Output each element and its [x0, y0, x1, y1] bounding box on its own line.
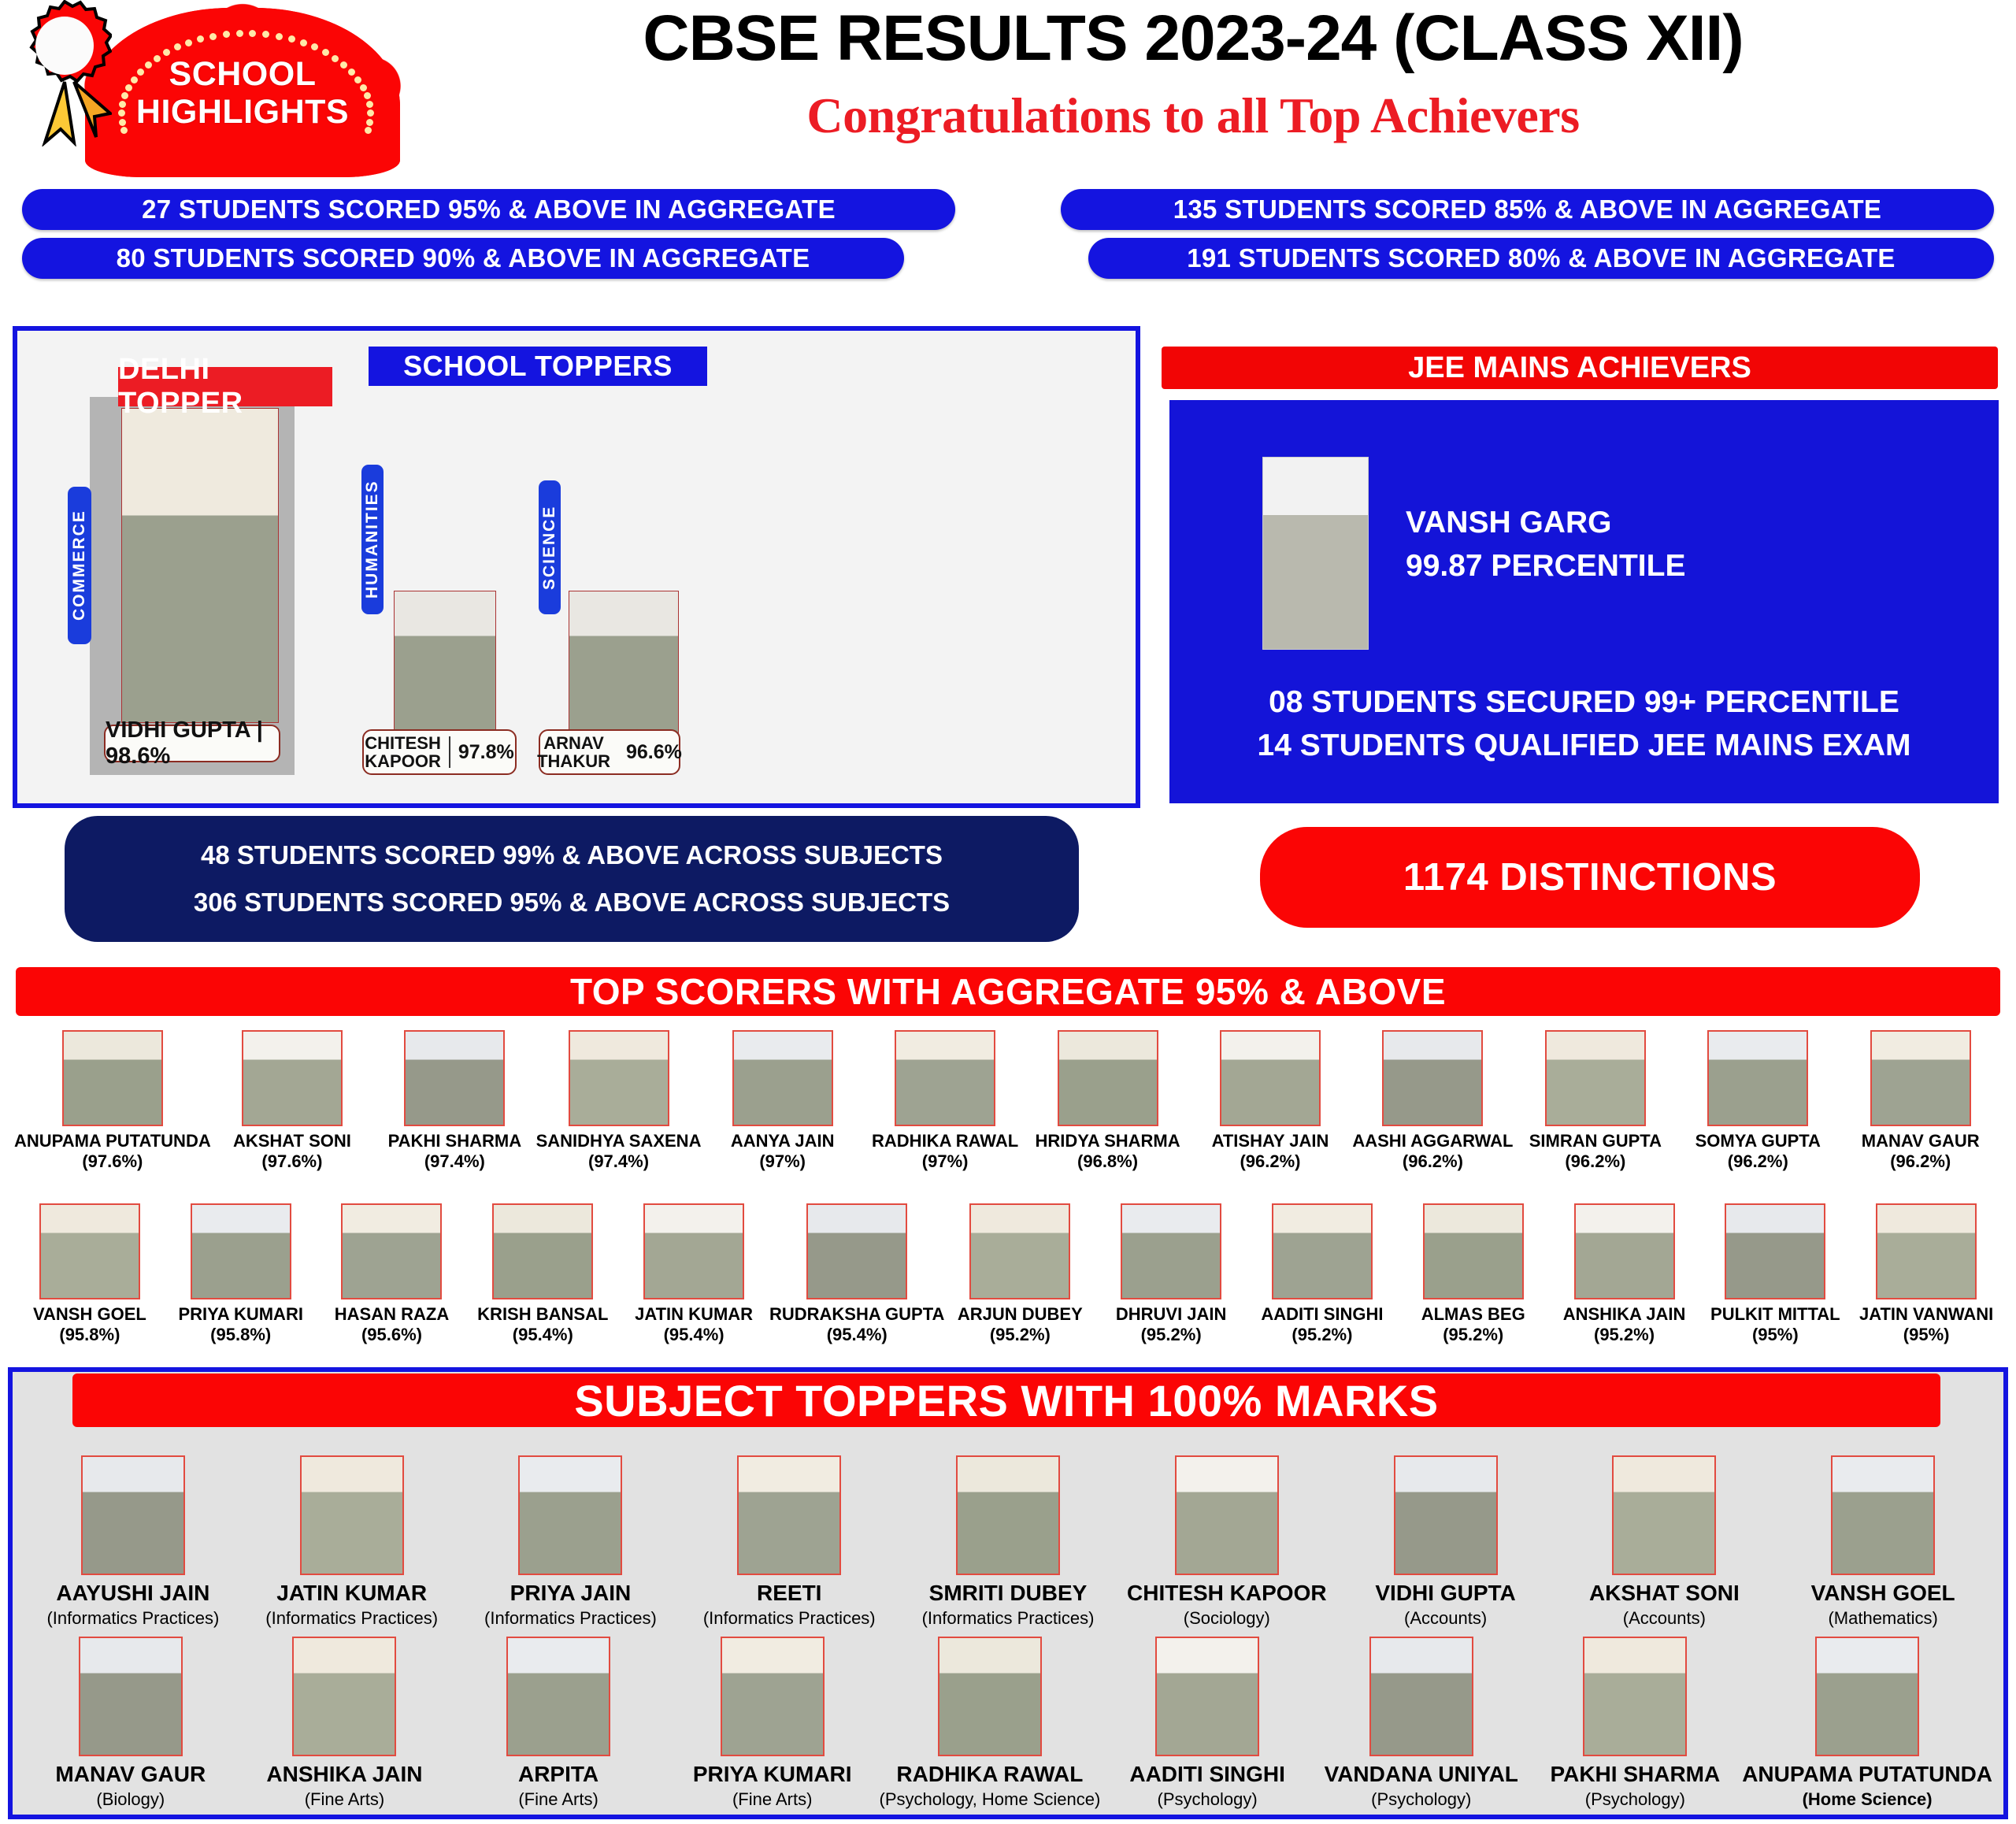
top-scorer-percentage: (95.2%): [990, 1325, 1051, 1345]
top-scorer-percentage: (96.2%): [1565, 1151, 1625, 1172]
science-topper-chip: ARNAV THAKUR 96.6%: [539, 729, 680, 775]
subject-topper-name: JATIN KUMAR: [276, 1581, 427, 1606]
subject-topper-name: CHITESH KAPOOR: [1127, 1581, 1327, 1606]
top-scorer-name: SANIDHYA SAXENA: [536, 1131, 702, 1151]
top-scorer-photo: [404, 1030, 505, 1126]
subject-topper-photo: [1831, 1455, 1935, 1575]
subject-topper-subject: (Psychology): [1158, 1789, 1258, 1810]
subject-topper-photo: [81, 1455, 185, 1575]
stat-pill-85-aggregate: 135 STUDENTS SCORED 85% & ABOVE IN AGGRE…: [1061, 189, 1994, 230]
top-scorer-name: VANSH GOEL: [33, 1304, 146, 1325]
stream-label-commerce: COMMERCE: [68, 487, 91, 644]
subjects-99-text: 48 STUDENTS SCORED 99% & ABOVE ACROSS SU…: [201, 840, 943, 870]
top-scorer-card: AASHI AGGARWAL(96.2%): [1351, 1030, 1514, 1172]
page-title: CBSE RESULTS 2023-24 (CLASS XII): [394, 2, 1992, 76]
subject-topper-card: AKSHAT SONI(Accounts): [1555, 1455, 1773, 1629]
page-subtitle: Congratulations to all Top Achievers: [394, 87, 1992, 145]
top-scorer-card: ARJUN DUBEY(95.2%): [944, 1203, 1095, 1345]
top-scorer-name: PULKIT MITTAL: [1710, 1304, 1840, 1325]
subject-topper-photo: [506, 1637, 610, 1756]
top-scorer-card: AKSHAT SONI(97.6%): [211, 1030, 373, 1172]
top-scorer-card: PRIYA KUMARI(95.8%): [165, 1203, 317, 1345]
subject-toppers-row-2: MANAV GAUR(Biology)ANSHIKA JAIN(Fine Art…: [24, 1637, 1992, 1810]
top-scorer-name: RADHIKA RAWAL: [872, 1131, 1018, 1151]
top-scorer-name: ALMAS BEG: [1421, 1304, 1525, 1325]
top-scorer-photo: [1121, 1203, 1221, 1299]
jee-stat-qualified: 14 STUDENTS QUALIFIED JEE MAINS EXAM: [1169, 724, 1999, 767]
stat-pill-80-aggregate: 191 STUDENTS SCORED 80% & ABOVE IN AGGRE…: [1088, 238, 1994, 279]
subject-topper-photo: [721, 1637, 825, 1756]
subject-topper-name: VIDHI GUPTA: [1375, 1581, 1515, 1606]
subject-topper-subject: (Informatics Practices): [703, 1608, 876, 1629]
top-scorer-name: AASHI AGGARWAL: [1352, 1131, 1513, 1151]
top-scorer-photo: [1058, 1030, 1158, 1126]
subject-topper-subject: (Informatics Practices): [46, 1608, 219, 1629]
top-scorer-percentage: (95.8%): [210, 1325, 271, 1345]
top-scorer-name: MANAV GAUR: [1862, 1131, 1980, 1151]
top-scorer-photo: [1220, 1030, 1321, 1126]
subject-topper-subject: (Accounts): [1404, 1608, 1487, 1629]
jee-stats: 08 STUDENTS SECURED 99+ PERCENTILE 14 ST…: [1169, 680, 1999, 768]
subject-topper-card: PAKHI SHARMA(Psychology): [1529, 1637, 1743, 1810]
top-scorer-card: PAKHI SHARMA(97.4%): [373, 1030, 535, 1172]
top-scorer-card: AANYA JAIN(97%): [701, 1030, 863, 1172]
subject-topper-subject: (Informatics Practices): [922, 1608, 1095, 1629]
subject-toppers-row-1: AAYUSHI JAIN(Informatics Practices)JATIN…: [24, 1455, 1992, 1629]
top-scorer-card: MANAV GAUR(96.2%): [1840, 1030, 2002, 1172]
top-scorer-photo: [732, 1030, 833, 1126]
top-scorer-card: SIMRAN GUPTA(96.2%): [1514, 1030, 1677, 1172]
science-topper-score: 96.6%: [626, 741, 682, 764]
subject-topper-card: JATIN KUMAR(Informatics Practices): [243, 1455, 461, 1629]
subject-topper-name: AKSHAT SONI: [1589, 1581, 1740, 1606]
top-scorer-name: JATIN VANWANI: [1859, 1304, 1993, 1325]
subject-topper-name: PAKHI SHARMA: [1551, 1763, 1721, 1787]
top-scorer-percentage: (95.2%): [1291, 1325, 1352, 1345]
subject-topper-card: VANSH GOEL(Mathematics): [1773, 1455, 1992, 1629]
subject-topper-name: VANDANA UNIYAL: [1325, 1763, 1518, 1787]
school-toppers-panel: DELHI TOPPER SCHOOL TOPPERS COMMERCE VID…: [13, 326, 1140, 808]
top-scorer-name: ARJUN DUBEY: [958, 1304, 1083, 1325]
subjects-scored-banner: 48 STUDENTS SCORED 99% & ABOVE ACROSS SU…: [65, 816, 1079, 942]
subject-topper-photo: [1394, 1455, 1498, 1575]
subject-topper-photo: [292, 1637, 396, 1756]
top-scorer-percentage: (95.4%): [827, 1325, 888, 1345]
subject-topper-name: SMRITI DUBEY: [929, 1581, 1088, 1606]
subject-topper-photo: [1815, 1637, 1919, 1756]
subject-topper-photo: [79, 1637, 183, 1756]
top-scorer-name: DHRUVI JAIN: [1116, 1304, 1227, 1325]
school-highlights-seal-icon: SCHOOL HIGHLIGHTS: [85, 8, 400, 177]
subject-topper-name: PRIYA KUMARI: [693, 1763, 852, 1787]
top-scorer-photo: [62, 1030, 163, 1126]
delhi-topper-photo: [121, 408, 279, 723]
top-scorer-photo: [895, 1030, 995, 1126]
top-scorer-card: DHRUVI JAIN(95.2%): [1095, 1203, 1247, 1345]
subject-topper-subject: (Psychology): [1371, 1789, 1471, 1810]
stat-pill-95-aggregate: 27 STUDENTS SCORED 95% & ABOVE IN AGGREG…: [22, 189, 955, 230]
top-scorers-heading: TOP SCORERS WITH AGGREGATE 95% & ABOVE: [16, 967, 2000, 1016]
top-scorer-name: KRISH BANSAL: [477, 1304, 608, 1325]
jee-topper-info: VANSH GARG 99.87 PERCENTILE: [1406, 501, 1685, 588]
top-scorer-name: HRIDYA SHARMA: [1035, 1131, 1180, 1151]
top-scorer-percentage: (96.2%): [1403, 1151, 1463, 1172]
top-scorer-name: ANSHIKA JAIN: [1563, 1304, 1686, 1325]
subject-topper-photo: [1155, 1637, 1259, 1756]
subject-topper-subject: (Sociology): [1184, 1608, 1270, 1629]
jee-stat-99-percentile: 08 STUDENTS SECURED 99+ PERCENTILE: [1169, 680, 1999, 724]
top-scorer-card: KRISH BANSAL(95.4%): [467, 1203, 618, 1345]
school-toppers-tab: SCHOOL TOPPERS: [369, 347, 707, 386]
subject-topper-name: AADITI SINGHI: [1129, 1763, 1285, 1787]
top-scorers-row-1: ANUPAMA PUTATUNDA(97.6%)AKSHAT SONI(97.6…: [14, 1030, 2002, 1172]
top-scorer-card: JATIN KUMAR(95.4%): [618, 1203, 769, 1345]
top-scorer-percentage: (96.2%): [1728, 1151, 1788, 1172]
subject-topper-name: ARPITA: [518, 1763, 598, 1787]
top-scorer-photo: [1707, 1030, 1808, 1126]
top-scorer-percentage: (97%): [759, 1151, 806, 1172]
top-scorer-card: SOMYA GUPTA(96.2%): [1677, 1030, 1839, 1172]
top-scorer-photo: [806, 1203, 907, 1299]
award-rosette-icon: [17, 0, 112, 146]
top-scorer-percentage: (95.6%): [361, 1325, 422, 1345]
subject-topper-card: ANSHIKA JAIN(Fine Arts): [238, 1637, 452, 1810]
top-scorer-photo: [1870, 1030, 1971, 1126]
top-scorer-percentage: (95%): [1903, 1325, 1950, 1345]
top-scorer-card: ATISHAY JAIN(96.2%): [1189, 1030, 1351, 1172]
top-scorer-name: PRIYA KUMARI: [178, 1304, 303, 1325]
subject-topper-subject: (Psychology, Home Science): [880, 1789, 1101, 1810]
subject-topper-card: MANAV GAUR(Biology): [24, 1637, 238, 1810]
subject-topper-card: PRIYA JAIN(Informatics Practices): [461, 1455, 680, 1629]
top-scorer-percentage: (95.2%): [1443, 1325, 1503, 1345]
subject-topper-name: ANUPAMA PUTATUNDA: [1742, 1763, 1992, 1787]
top-scorer-card: RADHIKA RAWAL(97%): [864, 1030, 1026, 1172]
top-scorer-card: VANSH GOEL(95.8%): [14, 1203, 165, 1345]
top-scorer-name: PAKHI SHARMA: [388, 1131, 521, 1151]
top-scorer-photo: [1382, 1030, 1483, 1126]
science-topper-photo: [569, 591, 679, 740]
aggregate-stats-grid: 27 STUDENTS SCORED 95% & ABOVE IN AGGREG…: [22, 189, 1994, 279]
top-scorer-name: SOMYA GUPTA: [1695, 1131, 1821, 1151]
subject-topper-photo: [518, 1455, 622, 1575]
subject-topper-card: SMRITI DUBEY(Informatics Practices): [899, 1455, 1117, 1629]
subject-topper-name: MANAV GAUR: [55, 1763, 206, 1787]
top-scorer-card: SANIDHYA SAXENA(97.4%): [536, 1030, 702, 1172]
subject-topper-card: AAYUSHI JAIN(Informatics Practices): [24, 1455, 243, 1629]
top-scorer-photo: [569, 1030, 669, 1126]
top-scorer-percentage: (96.2%): [1890, 1151, 1951, 1172]
subject-topper-name: AAYUSHI JAIN: [56, 1581, 209, 1606]
subject-topper-card: PRIYA KUMARI(Fine Arts): [665, 1637, 880, 1810]
top-scorer-percentage: (95.2%): [1141, 1325, 1202, 1345]
subject-topper-subject: (Fine Arts): [732, 1789, 812, 1810]
seal-label-line2: HIGHLIGHTS: [85, 93, 400, 131]
humanities-topper-chip: CHITESH KAPOOR 97.8%: [362, 729, 517, 775]
top-scorer-card: JATIN VANWANI(95%): [1851, 1203, 2002, 1345]
humanities-topper-name-line1: CHITESH: [365, 734, 441, 752]
top-scorer-name: SIMRAN GUPTA: [1529, 1131, 1662, 1151]
jee-topper-name: VANSH GARG: [1406, 501, 1685, 544]
subject-topper-subject: (Informatics Practices): [484, 1608, 657, 1629]
stat-pill-90-aggregate: 80 STUDENTS SCORED 90% & ABOVE IN AGGREG…: [22, 238, 904, 279]
top-scorers-row-2: VANSH GOEL(95.8%)PRIYA KUMARI(95.8%)HASA…: [14, 1203, 2002, 1345]
top-scorer-percentage: (96.2%): [1240, 1151, 1300, 1172]
top-scorer-percentage: (95.8%): [59, 1325, 120, 1345]
top-scorer-photo: [492, 1203, 593, 1299]
top-scorer-photo: [969, 1203, 1070, 1299]
top-scorer-card: ALMAS BEG(95.2%): [1398, 1203, 1549, 1345]
subject-topper-card: VIDHI GUPTA(Accounts): [1336, 1455, 1555, 1629]
delhi-topper-tab: DELHI TOPPER: [118, 367, 332, 406]
subject-topper-photo: [300, 1455, 404, 1575]
top-scorer-name: ATISHAY JAIN: [1212, 1131, 1329, 1151]
top-scorer-name: HASAN RAZA: [335, 1304, 449, 1325]
top-scorer-card: HRIDYA SHARMA(96.8%): [1026, 1030, 1188, 1172]
subject-topper-name: PRIYA JAIN: [510, 1581, 632, 1606]
top-scorer-name: RUDRAKSHA GUPTA: [769, 1304, 944, 1325]
top-scorer-percentage: (97.6%): [82, 1151, 143, 1172]
science-topper-name-line1: ARNAV: [537, 734, 610, 752]
subject-topper-name: VANSH GOEL: [1811, 1581, 1955, 1606]
top-scorer-photo: [1876, 1203, 1977, 1299]
humanities-topper-name-line2: KAPOOR: [365, 752, 441, 770]
top-scorer-percentage: (97.4%): [588, 1151, 649, 1172]
subject-topper-photo: [956, 1455, 1060, 1575]
subject-topper-card: REETI(Informatics Practices): [680, 1455, 899, 1629]
top-scorer-percentage: (97.6%): [261, 1151, 322, 1172]
top-scorer-card: RUDRAKSHA GUPTA(95.4%): [769, 1203, 944, 1345]
top-scorer-photo: [1423, 1203, 1524, 1299]
top-scorer-percentage: (97%): [922, 1151, 969, 1172]
subject-topper-subject: (Fine Arts): [305, 1789, 384, 1810]
seal-label-line1: SCHOOL: [85, 55, 400, 93]
top-scorer-percentage: (95%): [1752, 1325, 1799, 1345]
subject-topper-name: RADHIKA RAWAL: [896, 1763, 1083, 1787]
subject-topper-card: VANDANA UNIYAL(Psychology): [1314, 1637, 1529, 1810]
subject-topper-card: AADITI SINGHI(Psychology): [1100, 1637, 1314, 1810]
subject-topper-name: REETI: [757, 1581, 821, 1606]
subject-topper-subject: (Informatics Practices): [265, 1608, 438, 1629]
subject-topper-subject: (Accounts): [1623, 1608, 1706, 1629]
top-scorer-card: PULKIT MITTAL(95%): [1699, 1203, 1851, 1345]
top-scorer-photo: [39, 1203, 140, 1299]
top-scorer-percentage: (95.2%): [1594, 1325, 1655, 1345]
subject-topper-photo: [938, 1637, 1042, 1756]
top-scorer-photo: [643, 1203, 744, 1299]
top-scorer-name: AANYA JAIN: [731, 1131, 835, 1151]
humanities-topper-photo: [394, 591, 496, 740]
top-scorer-card: ANSHIKA JAIN(95.2%): [1549, 1203, 1700, 1345]
top-scorer-photo: [1574, 1203, 1675, 1299]
top-scorer-card: ANUPAMA PUTATUNDA(97.6%): [14, 1030, 211, 1172]
top-scorer-photo: [341, 1203, 442, 1299]
top-scorer-card: AADITI SINGHI(95.2%): [1247, 1203, 1398, 1345]
chip-divider: [449, 736, 450, 768]
stream-label-science: SCIENCE: [539, 480, 561, 614]
subject-topper-photo: [1583, 1637, 1687, 1756]
subject-toppers-panel: AAYUSHI JAIN(Informatics Practices)JATIN…: [8, 1367, 2008, 1819]
stream-label-humanities: HUMANITIES: [361, 465, 384, 614]
top-scorer-photo: [191, 1203, 291, 1299]
top-scorer-percentage: (95.4%): [664, 1325, 724, 1345]
top-scorer-percentage: (96.8%): [1077, 1151, 1138, 1172]
subject-topper-name: ANSHIKA JAIN: [266, 1763, 422, 1787]
jee-mains-heading: JEE MAINS ACHIEVERS: [1162, 347, 1998, 389]
subject-topper-subject: (Biology): [96, 1789, 165, 1810]
top-scorer-name: AKSHAT SONI: [233, 1131, 351, 1151]
subject-topper-subject: (Fine Arts): [518, 1789, 598, 1810]
top-scorer-photo: [1272, 1203, 1373, 1299]
jee-topper-percentile: 99.87 PERCENTILE: [1406, 544, 1685, 588]
subjects-95-text: 306 STUDENTS SCORED 95% & ABOVE ACROSS S…: [194, 888, 950, 918]
subject-topper-photo: [1612, 1455, 1716, 1575]
delhi-topper-name-chip: VIDHI GUPTA | 98.6%: [104, 725, 280, 762]
humanities-topper-score: 97.8%: [458, 741, 514, 764]
top-scorer-photo: [242, 1030, 343, 1126]
top-scorer-name: ANUPAMA PUTATUNDA: [14, 1131, 211, 1151]
subject-topper-subject: (Psychology): [1585, 1789, 1685, 1810]
top-scorer-name: JATIN KUMAR: [635, 1304, 753, 1325]
subject-topper-card: ARPITA(Fine Arts): [451, 1637, 665, 1810]
subject-topper-subject: (Home Science): [1803, 1789, 1933, 1810]
jee-mains-panel: VANSH GARG 99.87 PERCENTILE 08 STUDENTS …: [1169, 400, 1999, 803]
top-scorer-name: AADITI SINGHI: [1261, 1304, 1383, 1325]
subject-topper-card: ANUPAMA PUTATUNDA(Home Science): [1742, 1637, 1992, 1810]
top-scorer-percentage: (97.4%): [424, 1151, 485, 1172]
subject-topper-subject: (Mathematics): [1828, 1608, 1937, 1629]
science-topper-name-line2: THAKUR: [537, 752, 610, 770]
distinctions-banner: 1174 DISTINCTIONS: [1260, 827, 1920, 928]
page-header: SCHOOL HIGHLIGHTS CBSE RESULTS 2023-24 (…: [0, 0, 2016, 189]
top-scorer-photo: [1725, 1203, 1825, 1299]
top-scorer-percentage: (95.4%): [513, 1325, 573, 1345]
subject-topper-photo: [1175, 1455, 1279, 1575]
subject-topper-photo: [737, 1455, 841, 1575]
top-scorer-card: HASAN RAZA(95.6%): [317, 1203, 468, 1345]
subject-topper-photo: [1369, 1637, 1473, 1756]
subject-topper-card: RADHIKA RAWAL(Psychology, Home Science): [880, 1637, 1101, 1810]
jee-topper-photo: [1262, 457, 1369, 650]
subject-toppers-heading: SUBJECT TOPPERS WITH 100% MARKS: [72, 1374, 1940, 1427]
top-scorer-photo: [1545, 1030, 1646, 1126]
subject-topper-card: CHITESH KAPOOR(Sociology): [1117, 1455, 1336, 1629]
